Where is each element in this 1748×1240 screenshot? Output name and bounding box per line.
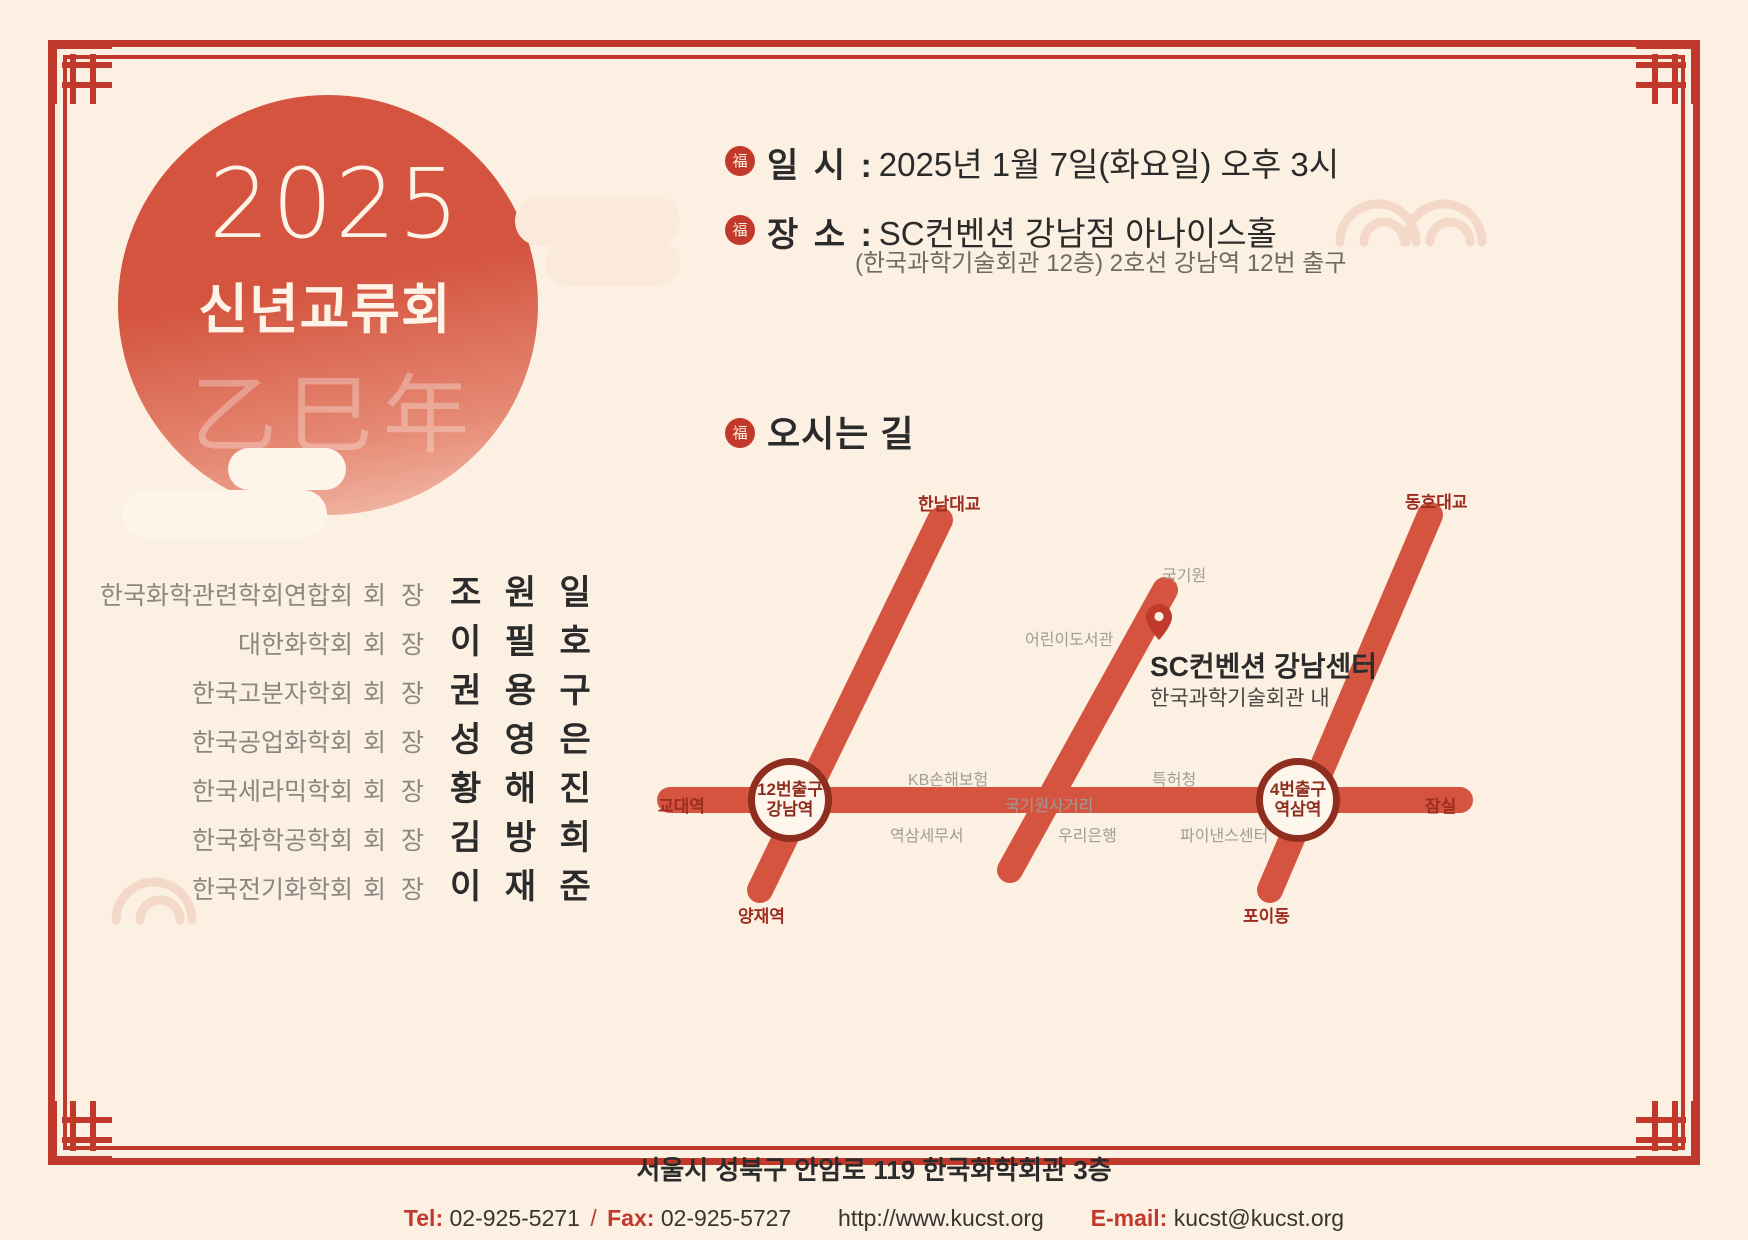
map-station-gangnam[interactable]: 12번출구 강남역 (748, 758, 832, 842)
officer-org: 한국화학공학회 (192, 821, 353, 857)
officers-list: 한국화학관련학회연합회 회 장 조 원 일 대한화학회 회 장 이 필 호 한국… (120, 565, 580, 908)
officer-name: 이 필 호 (450, 614, 580, 663)
cloud-decoration-2 (545, 240, 680, 286)
list-item: 한국화학관련학회연합회 회 장 조 원 일 (120, 565, 580, 614)
officer-name: 황 해 진 (450, 761, 580, 810)
footer-fax-value: 02-925-5727 (661, 1205, 791, 1231)
list-item: 한국화학공학회 회 장 김 방 희 (120, 810, 580, 859)
footer-contact-line: Tel: 02-925-5271 / Fax: 02-925-5727 http… (0, 1205, 1748, 1232)
map-landmark-woori-bank: 우리은행 (1058, 822, 1117, 846)
map-landmark-finance-center: 파이낸스센터 (1180, 822, 1268, 846)
officer-name: 성 영 은 (450, 712, 580, 761)
footer-fax-label: Fax: (607, 1205, 654, 1231)
map-landmark-gukgiwon: 국기원 (1162, 562, 1206, 586)
map-endpoint-dongho-bridge: 동호대교 (1405, 488, 1468, 513)
map-station-name: 강남역 (767, 800, 814, 820)
officer-name: 조 원 일 (450, 565, 580, 614)
list-item: 한국공업화학회 회 장 성 영 은 (120, 712, 580, 761)
corner-ornament-top-right (1636, 42, 1698, 104)
officer-name: 권 용 구 (450, 663, 580, 712)
list-item: 한국전기화학회 회 장 이 재 준 (120, 859, 580, 908)
officer-title: 회 장 (363, 870, 428, 906)
officer-title: 회 장 (363, 821, 428, 857)
fu-badge-icon: 福 (725, 146, 755, 176)
officer-title: 회 장 (363, 625, 428, 661)
map-landmark-childrens-library: 어린이도서관 (1025, 626, 1113, 650)
cloud-decoration-1 (515, 196, 680, 246)
footer-tel-label: Tel: (404, 1205, 443, 1231)
footer-email-value: kucst@kucst.org (1174, 1205, 1344, 1231)
poster-root: 乙巳年 2025 신년교류회 福 일 시 : 2025년 1월 7일(화요일 (0, 0, 1748, 1240)
map-venue-sub: 한국과학기술회관 내 (1150, 682, 1330, 712)
officer-title: 회 장 (363, 576, 428, 612)
officer-org: 한국공업화학회 (192, 723, 353, 759)
officer-title: 회 장 (363, 723, 428, 759)
footer-website-link[interactable]: http://www.kucst.org (838, 1205, 1044, 1231)
footer-tel-value: 02-925-5271 (450, 1205, 580, 1231)
location-pin-icon (1145, 603, 1173, 641)
officer-org: 한국전기화학회 (192, 870, 353, 906)
map-venue-name: SC컨벤션 강남센터 (1150, 645, 1377, 685)
event-info-block: 福 일 시 : 2025년 1월 7일(화요일) 오후 3시 福 장 소 : S… (725, 138, 1339, 276)
footer-email-label: E-mail: (1091, 1205, 1168, 1231)
map-station-exit: 4번출구 (1270, 780, 1326, 800)
directions-title: 오시는 길 (767, 405, 914, 457)
map-endpoint-yangjae-station: 양재역 (738, 902, 785, 927)
map-endpoint-gyodae-station: 교대역 (658, 792, 705, 817)
map-landmark-kb-insurance: KB손해보험 (908, 766, 988, 790)
officer-name: 이 재 준 (450, 859, 580, 908)
officer-org: 한국화학관련학회연합회 (100, 576, 353, 612)
fu-badge-icon: 福 (725, 418, 755, 448)
footer-address: 서울시 성북구 안암로 119 한국화학회관 3층 (0, 1150, 1748, 1187)
event-date-row: 福 일 시 : 2025년 1월 7일(화요일) 오후 3시 (725, 138, 1339, 187)
list-item: 대한화학회 회 장 이 필 호 (120, 614, 580, 663)
map-landmark-yeoksam-tax-office: 역삼세무서 (890, 822, 964, 846)
cloud-decoration-4 (122, 490, 327, 538)
map-endpoint-jamsil: 잠실 (1425, 792, 1456, 817)
list-item: 한국고분자학회 회 장 권 용 구 (120, 663, 580, 712)
officer-org: 한국세라믹학회 (192, 772, 353, 808)
map-station-yeoksam[interactable]: 4번출구 역삼역 (1256, 758, 1340, 842)
hero-subtitle-text: 신년교류회 (175, 265, 475, 344)
event-place-note: (한국과학기술회관 12층) 2호선 강남역 12번 출구 (855, 243, 1346, 278)
map-station-exit: 12번출구 (757, 780, 823, 800)
wave-arc-decoration-top-right (1330, 170, 1490, 250)
list-item: 한국세라믹학회 회 장 황 해 진 (120, 761, 580, 810)
officer-name: 김 방 희 (450, 810, 580, 859)
event-date-value: 2025년 1월 7일(화요일) 오후 3시 (879, 138, 1339, 186)
corner-ornament-top-left (50, 42, 112, 104)
officer-title: 회 장 (363, 674, 428, 710)
event-date-label: 일 시 : (767, 138, 875, 187)
directions-section-header: 福 오시는 길 (725, 405, 914, 457)
map-landmark-patent-office: 특허청 (1152, 766, 1196, 790)
directions-map: 한남대교 동호대교 양재역 포이동 교대역 잠실 국기원 어린이도서관 KB손해… (640, 470, 1500, 940)
map-landmark-gukgiwon-intersection: 국기원사거리 (1005, 792, 1093, 816)
officer-org: 한국고분자학회 (192, 674, 353, 710)
cloud-decoration-3 (228, 448, 346, 490)
hero-year-text: 2025 (190, 148, 480, 260)
officer-org: 대한화학회 (238, 625, 353, 661)
map-endpoint-hannam-bridge: 한남대교 (918, 490, 981, 515)
officer-title: 회 장 (363, 772, 428, 808)
map-station-name: 역삼역 (1275, 800, 1322, 820)
footer: 서울시 성북구 안암로 119 한국화학회관 3층 Tel: 02-925-52… (0, 1150, 1748, 1232)
map-roads (640, 470, 1500, 940)
fu-badge-icon: 福 (725, 215, 755, 245)
footer-separator: / (590, 1205, 596, 1231)
map-endpoint-poi-dong: 포이동 (1243, 902, 1290, 927)
